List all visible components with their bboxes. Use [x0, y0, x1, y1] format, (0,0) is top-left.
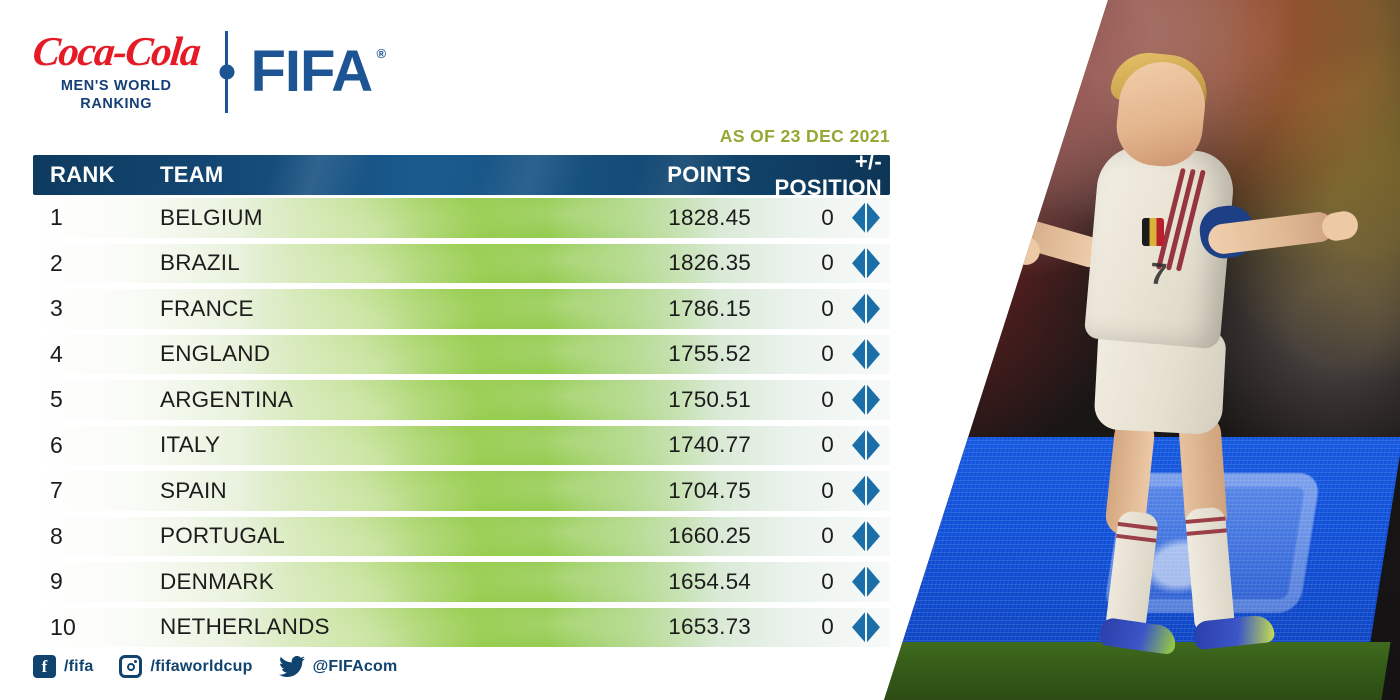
cell-change: 0	[751, 569, 842, 595]
position-no-change-icon	[852, 203, 880, 233]
cell-indicator	[842, 567, 890, 597]
position-no-change-icon	[852, 430, 880, 460]
twitter-handle: @FIFAcom	[313, 658, 398, 676]
cell-team: NETHERLANDS	[143, 614, 518, 640]
cell-rank: 9	[33, 568, 143, 595]
cell-rank: 4	[33, 341, 143, 368]
table-row: 9DENMARK1654.540	[33, 559, 890, 605]
fifa-wordmark: FIFA	[250, 39, 372, 104]
cell-team: BRAZIL	[143, 250, 518, 276]
fifa-logo: FIFA®	[250, 43, 372, 101]
ranking-graphic: 7 Coca-Cola MEN'S WORLD RANKING FIFA® AS…	[0, 0, 1400, 700]
cell-indicator	[842, 430, 890, 460]
table-row: 8PORTUGAL1660.250	[33, 514, 890, 560]
position-no-change-icon	[852, 476, 880, 506]
cell-points: 1828.45	[518, 205, 751, 231]
position-no-change-icon	[852, 339, 880, 369]
cell-team: ITALY	[143, 432, 518, 458]
player-photo: 7	[860, 0, 1400, 700]
registered-mark-icon: ®	[377, 47, 386, 60]
cell-team: SPAIN	[143, 478, 518, 504]
cell-points: 1740.77	[518, 432, 751, 458]
mwr-line-2: RANKING	[61, 96, 172, 114]
as-of-date: AS OF 23 DEC 2021	[10, 126, 890, 147]
table-body: 1BELGIUM1828.4502BRAZIL1826.3503FRANCE17…	[33, 195, 890, 650]
cell-indicator	[842, 294, 890, 324]
cell-team: PORTUGAL	[143, 523, 518, 549]
cell-indicator	[842, 248, 890, 278]
cell-rank: 10	[33, 614, 143, 641]
twitter-link[interactable]: @FIFAcom	[279, 656, 398, 677]
table-row: 7SPAIN1704.750	[33, 468, 890, 514]
cell-change: 0	[751, 387, 842, 413]
twitter-icon	[279, 656, 305, 677]
cell-rank: 7	[33, 477, 143, 504]
logo-divider-icon	[225, 31, 228, 113]
ranking-table: RANK TEAM POINTS +/- POSITION 1BELGIUM18…	[33, 155, 890, 650]
cell-rank: 5	[33, 386, 143, 413]
facebook-icon: f	[33, 655, 56, 678]
column-header-position: +/- POSITION	[751, 155, 890, 195]
cell-rank: 3	[33, 295, 143, 322]
cell-points: 1786.15	[518, 296, 751, 322]
cell-team: DENMARK	[143, 569, 518, 595]
instagram-handle: /fifaworldcup	[150, 658, 252, 676]
cell-points: 1750.51	[518, 387, 751, 413]
coca-cola-wordmark: Coca-Cola	[31, 31, 202, 72]
table-row: 10NETHERLANDS1653.730	[33, 605, 890, 651]
cell-indicator	[842, 476, 890, 506]
table-header-row: RANK TEAM POINTS +/- POSITION	[33, 155, 890, 195]
column-header-team: TEAM	[143, 162, 518, 188]
cell-change: 0	[751, 296, 842, 322]
cell-points: 1704.75	[518, 478, 751, 504]
cell-indicator	[842, 612, 890, 642]
cell-team: ARGENTINA	[143, 387, 518, 413]
position-no-change-icon	[852, 567, 880, 597]
instagram-link[interactable]: /fifaworldcup	[119, 655, 252, 678]
cell-points: 1660.25	[518, 523, 751, 549]
shirt-number: 7	[1149, 257, 1169, 292]
cell-team: ENGLAND	[143, 341, 518, 367]
belgium-crest	[1142, 218, 1164, 246]
coca-cola-lockup: Coca-Cola MEN'S WORLD RANKING	[33, 31, 199, 113]
cell-points: 1826.35	[518, 250, 751, 276]
social-footer: f /fifa /fifaworldcup @FIFAcom	[33, 655, 423, 678]
cell-change: 0	[751, 523, 842, 549]
position-no-change-icon	[852, 385, 880, 415]
position-no-change-icon	[852, 612, 880, 642]
cell-team: FRANCE	[143, 296, 518, 322]
cell-change: 0	[751, 250, 842, 276]
instagram-icon	[119, 655, 142, 678]
column-header-rank: RANK	[33, 162, 143, 188]
mens-world-ranking-label: MEN'S WORLD RANKING	[61, 78, 172, 113]
cell-points: 1755.52	[518, 341, 751, 367]
cell-team: BELGIUM	[143, 205, 518, 231]
facebook-link[interactable]: f /fifa	[33, 655, 93, 678]
cell-points: 1653.73	[518, 614, 751, 640]
table-row: 1BELGIUM1828.450	[33, 195, 890, 241]
cell-change: 0	[751, 432, 842, 458]
cell-indicator	[842, 339, 890, 369]
pitch-grass	[860, 642, 1391, 700]
table-row: 3FRANCE1786.150	[33, 286, 890, 332]
cell-change: 0	[751, 205, 842, 231]
content-panel: Coca-Cola MEN'S WORLD RANKING FIFA® AS O…	[0, 0, 900, 700]
logo-bar: Coca-Cola MEN'S WORLD RANKING FIFA®	[33, 26, 372, 118]
position-no-change-icon	[852, 294, 880, 324]
cell-indicator	[842, 521, 890, 551]
cell-rank: 1	[33, 204, 143, 231]
facebook-handle: /fifa	[64, 658, 93, 676]
cell-change: 0	[751, 478, 842, 504]
cell-indicator	[842, 385, 890, 415]
divider-dot-icon	[219, 65, 234, 80]
cell-points: 1654.54	[518, 569, 751, 595]
column-header-points: POINTS	[518, 162, 751, 188]
cell-rank: 6	[33, 432, 143, 459]
cell-indicator	[842, 203, 890, 233]
table-row: 4ENGLAND1755.520	[33, 332, 890, 378]
mwr-line-1: MEN'S WORLD	[61, 78, 172, 96]
cell-change: 0	[751, 614, 842, 640]
table-row: 5ARGENTINA1750.510	[33, 377, 890, 423]
cell-change: 0	[751, 341, 842, 367]
position-no-change-icon	[852, 521, 880, 551]
cell-rank: 8	[33, 523, 143, 550]
position-no-change-icon	[852, 248, 880, 278]
table-row: 2BRAZIL1826.350	[33, 241, 890, 287]
cell-rank: 2	[33, 250, 143, 277]
table-row: 6ITALY1740.770	[33, 423, 890, 469]
